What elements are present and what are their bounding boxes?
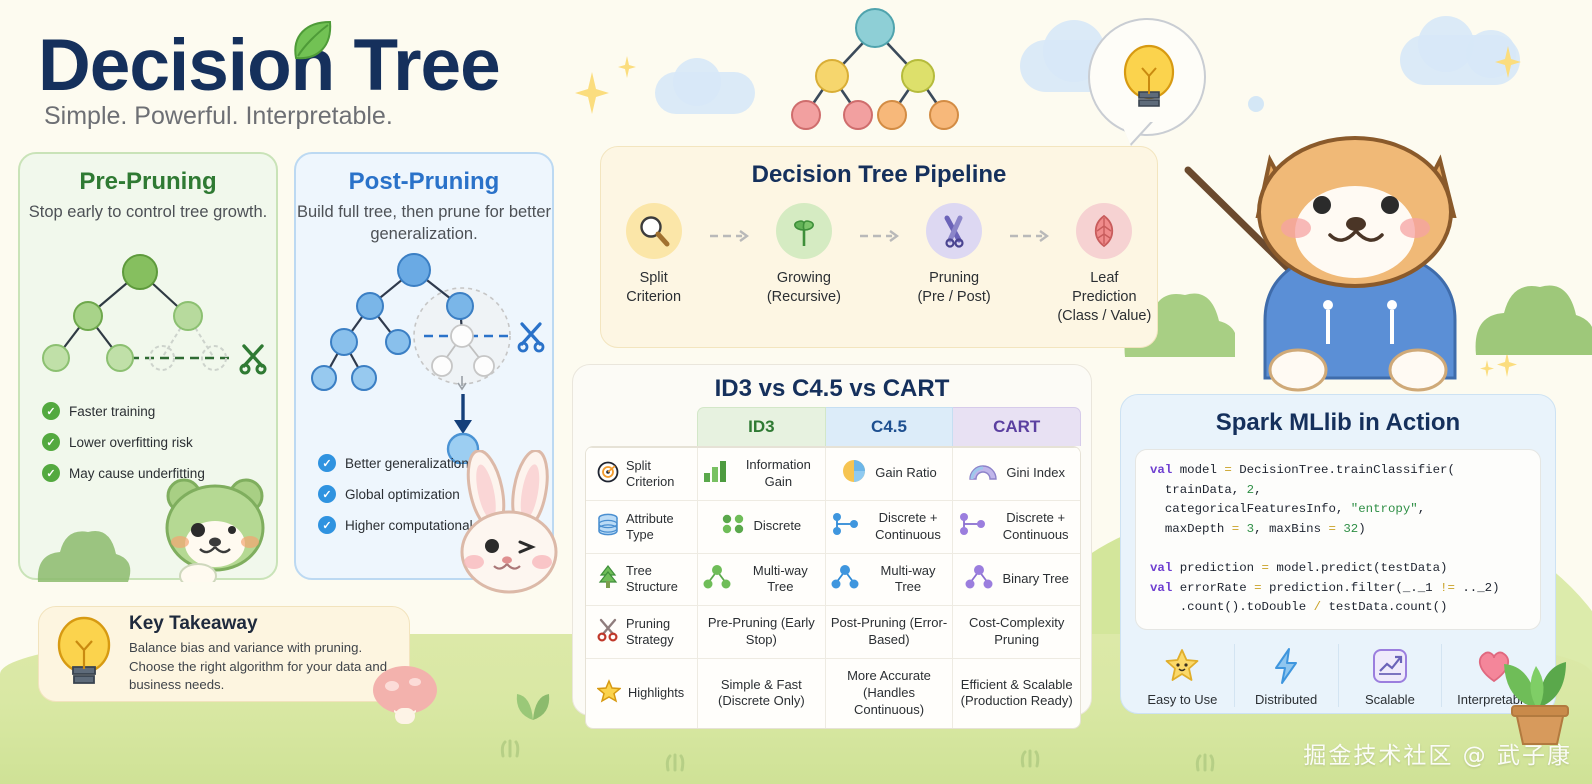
cell-cart-structure: Binary Tree (953, 554, 1080, 606)
tree-graph-icon (830, 564, 860, 595)
cell-cart-attr: Discrete + Continuous (953, 501, 1080, 553)
potted-plant-decoration (1492, 630, 1588, 751)
node-link-icon (957, 512, 987, 541)
check-circle-icon: ✓ (318, 485, 336, 503)
table-header-row: ID3 C4.5 CART (585, 407, 1081, 446)
pipeline-arrow-icon (706, 203, 751, 247)
check-circle-icon: ✓ (42, 402, 60, 420)
post-pruning-subtitle: Build full tree, then prune for better g… (296, 202, 552, 246)
pipeline-step-split-criterion: Split Criterion (601, 203, 706, 307)
cloud-icon (673, 58, 721, 106)
cell-id3-split: Information Gain (698, 448, 826, 500)
column-header-id3: ID3 (697, 407, 826, 446)
pipeline-step-leaf-prediction: Leaf Prediction (Class / Value) (1052, 203, 1157, 326)
feature-easy-to-use: Easy to Use (1131, 644, 1235, 707)
cell-id3-highlights: Simple & Fast (Discrete Only) (698, 659, 826, 728)
tree-graph-icon (702, 564, 732, 595)
comparison-title: ID3 vs C4.5 vs CART (573, 375, 1091, 403)
step-line-2: Criterion (601, 288, 706, 307)
bullet-label: Lower overfitting risk (69, 435, 193, 450)
mushroom-decoration (370, 664, 440, 731)
lightbulb-icon (53, 614, 115, 695)
feature-scalable: Scalable (1339, 644, 1443, 707)
key-takeaway-body: Balance bias and variance with pruning. … (129, 639, 395, 695)
comparison-table: ID3 C4.5 CART Split Criterion (585, 407, 1081, 729)
sparkle-icon (1495, 46, 1521, 78)
thought-bubble (1088, 18, 1206, 136)
post-pruning-title: Post-Pruning (296, 168, 552, 196)
star-icon (597, 679, 621, 707)
table-header-spacer (585, 407, 697, 446)
node-link-icon (830, 512, 860, 541)
scissors-icon (519, 324, 543, 351)
cloud-icon (1418, 16, 1474, 72)
spark-feature-row: Easy to Use Distributed Scalable Interpr… (1131, 644, 1545, 707)
trend-chart-icon (1339, 644, 1442, 688)
column-header-cart: CART (953, 407, 1081, 446)
decorative-tree-diagram (780, 4, 970, 134)
cell-c45-split: Gain Ratio (826, 448, 954, 500)
sparkle-icon (618, 56, 636, 78)
watermark: 掘金技术社区 @ 武子康 (1303, 736, 1572, 770)
list-item: ✓ Faster training (42, 402, 277, 420)
grass-tuft-decoration (495, 738, 525, 763)
pipeline-title: Decision Tree Pipeline (601, 161, 1157, 189)
scissors-icon (597, 618, 619, 646)
table-row: Split Criterion Information Gain Gain Ra… (586, 447, 1080, 500)
star-face-icon (1131, 644, 1234, 688)
table-row: Highlights Simple & Fast (Discrete Only)… (586, 658, 1080, 728)
bush-decoration (1470, 250, 1592, 365)
tree-graph-icon (964, 564, 994, 595)
step-line-1: Growing (751, 269, 856, 288)
check-circle-icon: ✓ (318, 516, 336, 534)
cloud-bubble-icon (1248, 96, 1264, 112)
page-title: Decision Tree (38, 24, 500, 107)
scissors-icon (241, 346, 265, 373)
step-line-1: Split (601, 269, 706, 288)
cell-c45-highlights: More Accurate (Handles Continuous) (826, 659, 954, 728)
target-icon (597, 461, 619, 487)
leaf-icon (290, 20, 334, 67)
cell-id3-structure: Multi-way Tree (698, 554, 826, 606)
pipeline-arrow-icon (857, 203, 902, 247)
pre-pruning-title: Pre-Pruning (20, 168, 276, 196)
cell-id3-pruning: Pre-Pruning (Early Stop) (698, 606, 826, 658)
row-label-attribute-type: Attribute Type (586, 501, 698, 553)
row-label-pruning-strategy: Pruning Strategy (586, 606, 698, 658)
code-block: val model = DecisionTree.trainClassifier… (1135, 449, 1541, 630)
cell-c45-pruning: Post-Pruning (Error-Based) (826, 606, 954, 658)
pie-chart-icon (841, 458, 867, 489)
cell-id3-attr: Discrete (698, 501, 826, 553)
step-line-2: (Pre / Post) (901, 288, 1006, 307)
card-key-takeaway: Key Takeaway Balance bias and variance w… (38, 606, 410, 702)
bar-chart-icon (702, 459, 728, 488)
bear-mascot (158, 472, 276, 587)
grass-tuft-decoration (1015, 748, 1045, 773)
cell-cart-split: Gini Index (953, 448, 1080, 500)
sprout-icon (776, 203, 832, 259)
cell-cart-highlights: Efficient & Scalable (Production Ready) (953, 659, 1080, 728)
four-dots-icon (721, 513, 745, 540)
grass-tuft-decoration (660, 752, 690, 777)
row-label-tree-structure: Tree Structure (586, 554, 698, 606)
page-subtitle: Simple. Powerful. Interpretable. (44, 102, 393, 131)
list-item: ✓ Lower overfitting risk (42, 433, 277, 451)
card-pipeline: Decision Tree Pipeline Split Criterion (600, 146, 1158, 348)
infographic-canvas: Decision Tree Simple. Powerful. Interpre… (0, 0, 1592, 784)
pipeline-arrow-icon (1007, 203, 1052, 247)
pine-tree-icon (597, 565, 619, 593)
bunny-mascot (452, 450, 572, 600)
pre-pruning-subtitle: Stop early to control tree growth. (20, 202, 276, 224)
bullet-label: Better generalization (345, 456, 469, 471)
check-circle-icon: ✓ (42, 464, 60, 482)
lightning-icon (1235, 644, 1338, 688)
column-header-c45: C4.5 (826, 407, 954, 446)
leaf-icon (1076, 203, 1132, 259)
sparkle-icon (575, 72, 609, 114)
bubble-tail (1120, 120, 1152, 144)
lightbulb-icon (1122, 42, 1176, 121)
cell-c45-structure: Multi-way Tree (826, 554, 954, 606)
feature-distributed: Distributed (1235, 644, 1339, 707)
pipeline-step-growing: Growing (Recursive) (751, 203, 856, 307)
spark-title: Spark MLlib in Action (1121, 409, 1555, 437)
bush-decoration (34, 512, 142, 589)
magnifier-icon (626, 203, 682, 259)
cell-cart-pruning: Cost-Complexity Pruning (953, 606, 1080, 658)
check-circle-icon: ✓ (318, 454, 336, 472)
step-line-2: (Recursive) (751, 288, 856, 307)
table-row: Attribute Type Discrete Discrete + Conti… (586, 500, 1080, 553)
post-pruning-tree-diagram (302, 244, 552, 469)
table-row: Pruning Strategy Pre-Pruning (Early Stop… (586, 605, 1080, 658)
row-label-highlights: Highlights (586, 659, 698, 728)
table-row: Tree Structure Multi-way Tree Multi-way … (586, 553, 1080, 606)
step-line-3: (Class / Value) (1052, 307, 1157, 326)
pre-pruning-tree-diagram (30, 246, 270, 381)
step-line-2: Prediction (1052, 288, 1157, 307)
gauge-icon (968, 461, 998, 486)
row-label-split-criterion: Split Criterion (586, 448, 698, 500)
plant-decoration (510, 676, 556, 727)
card-pre-pruning: Pre-Pruning Stop early to control tree g… (18, 152, 278, 580)
bullet-label: Faster training (69, 404, 155, 419)
bullet-label: Global optimization (345, 487, 460, 502)
step-line-1: Pruning (901, 269, 1006, 288)
pipeline-steps: Split Criterion Growing (Recursive) (601, 203, 1157, 326)
step-line-1: Leaf (1052, 269, 1157, 288)
key-takeaway-title: Key Takeaway (129, 613, 395, 635)
card-spark-mllib: Spark MLlib in Action val model = Decisi… (1120, 394, 1556, 714)
pipeline-step-pruning: Pruning (Pre / Post) (901, 203, 1006, 307)
grass-tuft-decoration (1190, 752, 1220, 777)
card-comparison-table: ID3 vs C4.5 vs CART ID3 C4.5 CART Split … (572, 364, 1092, 716)
database-icon (597, 513, 619, 541)
cell-c45-attr: Discrete + Continuous (826, 501, 954, 553)
pruning-shears-icon (926, 203, 982, 259)
check-circle-icon: ✓ (42, 433, 60, 451)
